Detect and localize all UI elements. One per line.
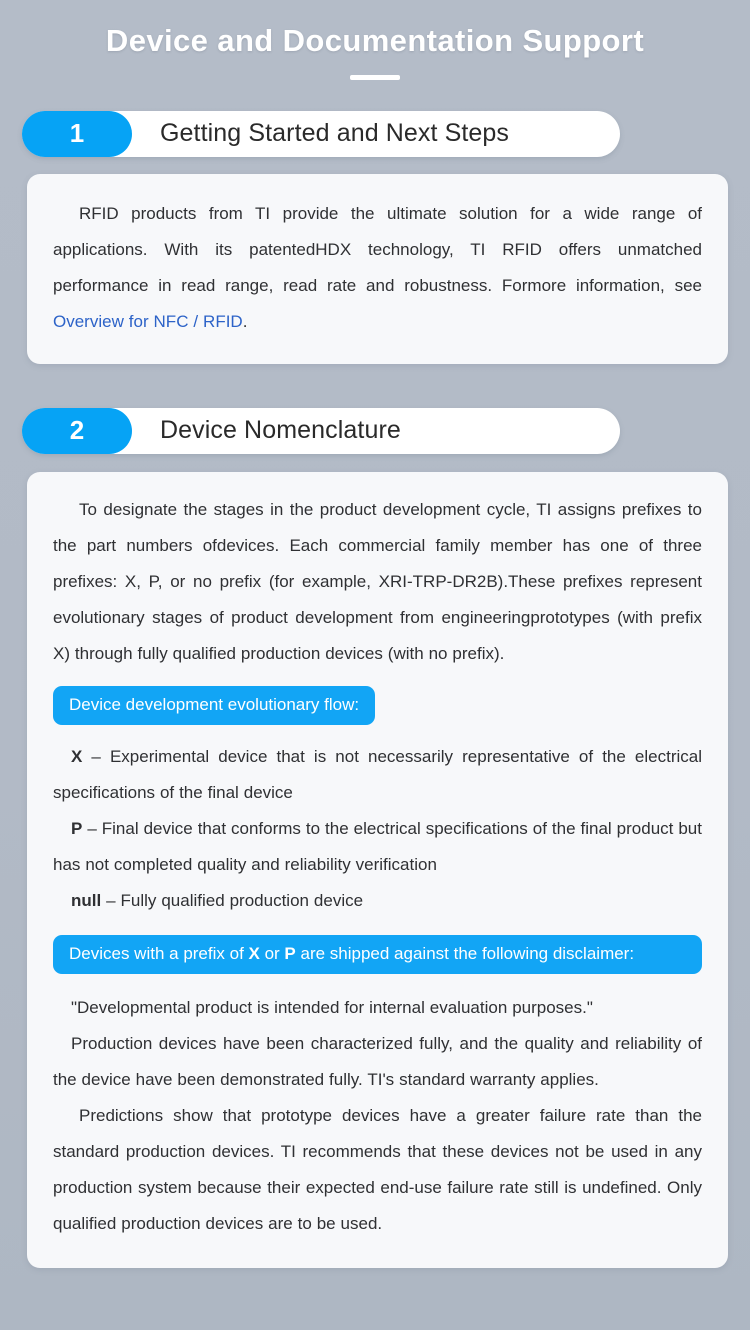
definition-dash-x: – <box>82 747 110 766</box>
definition-item-x: X – Experimental device that is not nece… <box>53 739 702 811</box>
banner-disclaimer-part1: Devices with a prefix of <box>69 944 249 963</box>
section-1-paragraph: RFID products from TI provide the ultima… <box>53 196 702 340</box>
disclaimer-quote: "Developmental product is intended for i… <box>53 990 702 1026</box>
production-devices-paragraph: Production devices have been characteriz… <box>53 1026 702 1098</box>
banner-device-development-flow: Device development evolutionary flow: <box>53 686 375 725</box>
title-underline-rule <box>350 75 400 80</box>
definition-text-x: Experimental device that is not necessar… <box>53 747 702 802</box>
section-number-badge-1: 1 <box>22 111 132 157</box>
predictions-paragraph: Predictions show that prototype devices … <box>53 1098 702 1242</box>
definition-text-p: Final device that conforms to the electr… <box>53 819 702 874</box>
section-title-2: Device Nomenclature <box>160 416 401 445</box>
overview-nfc-rfid-link[interactable]: Overview for NFC / RFID <box>53 312 243 331</box>
definition-term-x: X <box>71 747 82 766</box>
section-number-badge-2: 2 <box>22 408 132 454</box>
definition-term-p: P <box>71 819 82 838</box>
banner-disclaimer-part2: or <box>260 944 285 963</box>
section-card-1: RFID products from TI provide the ultima… <box>27 174 728 364</box>
banner-disclaimer-bold-x: X <box>249 944 260 963</box>
section-header-2[interactable]: 2 Device Nomenclature <box>22 408 620 454</box>
section-1-paragraph-tail: . <box>243 312 248 331</box>
page-title: Device and Documentation Support <box>30 22 720 61</box>
section-card-2: To designate the stages in the product d… <box>27 472 728 1268</box>
banner-disclaimer-bold-p: P <box>284 944 295 963</box>
definition-dash-p: – <box>82 819 101 838</box>
definition-term-null: null <box>71 891 101 910</box>
banner-disclaimer-part3: are shipped against the following discla… <box>296 944 634 963</box>
device-nomenclature-intro: To designate the stages in the product d… <box>53 492 702 672</box>
banner-prefix-disclaimer: Devices with a prefix of X or P are ship… <box>53 935 702 974</box>
section-1-paragraph-text: RFID products from TI provide the ultima… <box>53 204 702 295</box>
section-header-1[interactable]: 1 Getting Started and Next Steps <box>22 111 620 157</box>
definition-text-null: Fully qualified production device <box>121 891 364 910</box>
definition-item-p: P – Final device that conforms to the el… <box>53 811 702 883</box>
definition-item-null: null – Fully qualified production device <box>53 883 702 919</box>
page-header: Device and Documentation Support <box>0 0 750 80</box>
prefix-definition-list: X – Experimental device that is not nece… <box>53 739 702 919</box>
definition-dash-null: – <box>101 891 120 910</box>
page-root: Device and Documentation Support 1 Getti… <box>0 0 750 1330</box>
section-title-1: Getting Started and Next Steps <box>160 119 509 148</box>
